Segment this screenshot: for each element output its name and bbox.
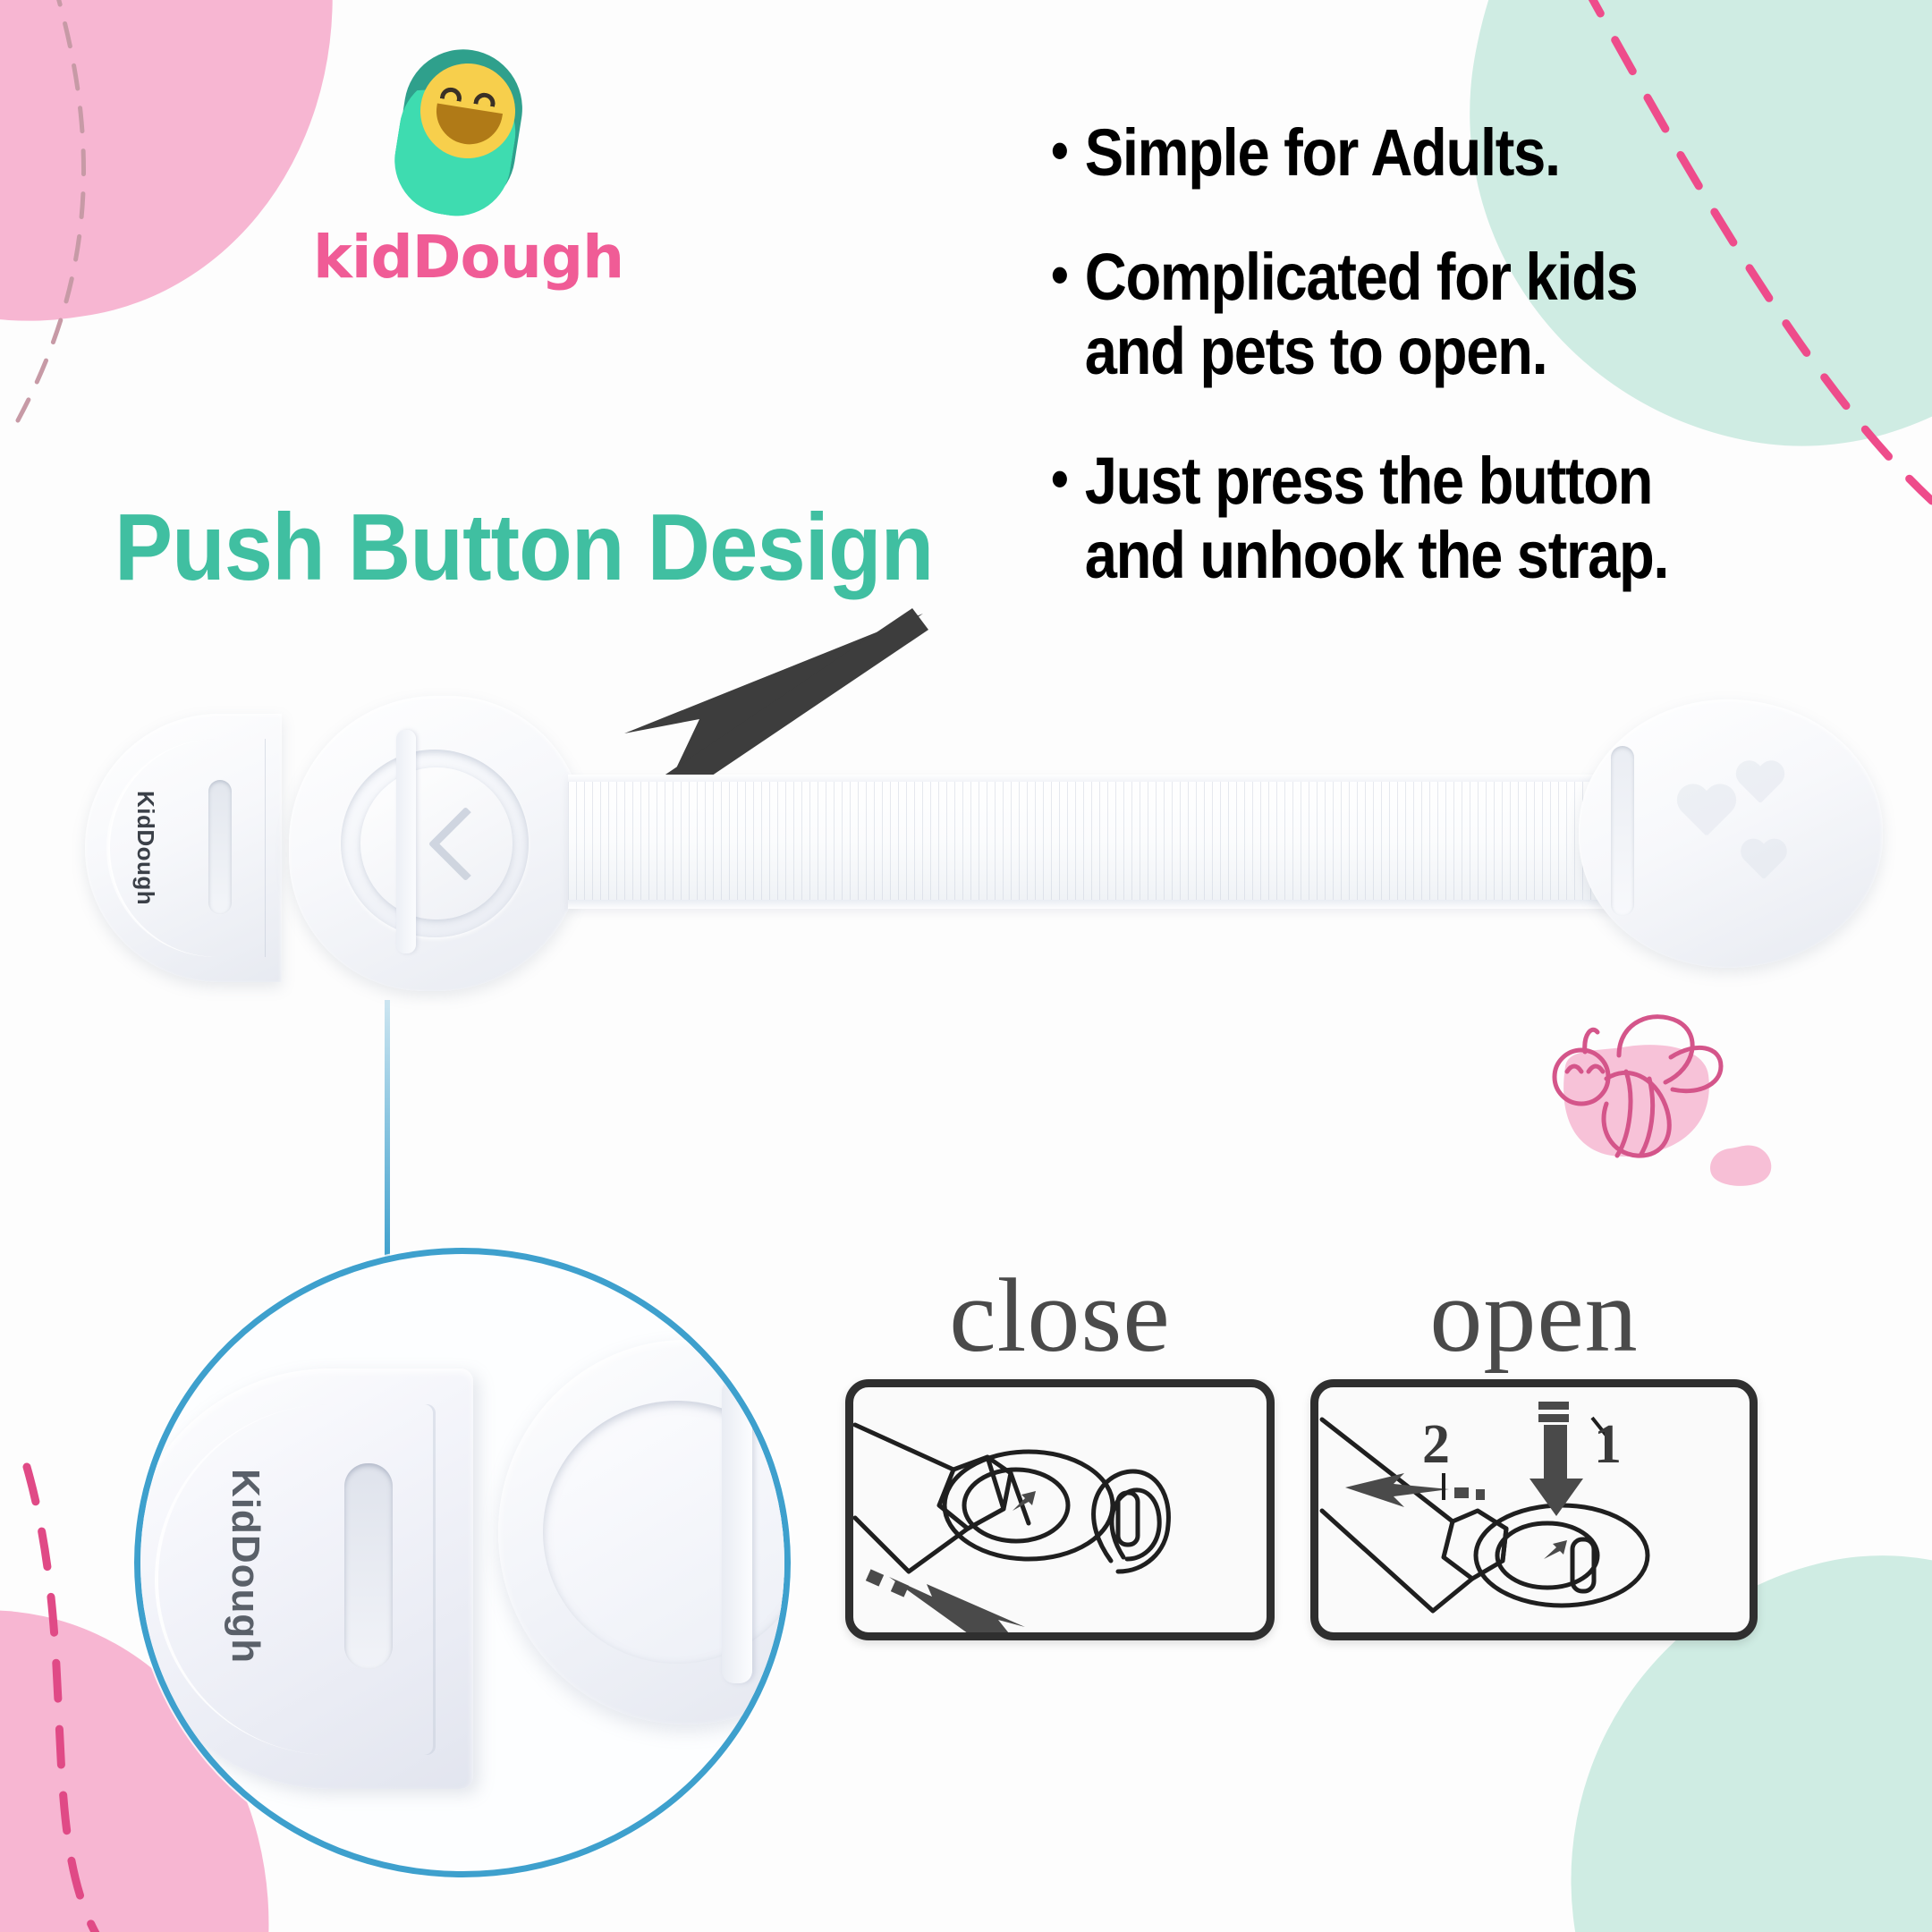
bullet-marker: • xyxy=(1051,241,1067,309)
section-heading: Push Button Design xyxy=(114,494,933,602)
d-piece-rim xyxy=(106,739,266,957)
eye-left-icon xyxy=(440,86,463,102)
magnified-detail-circle: KidDough xyxy=(134,1248,791,1877)
heart-emboss-icon xyxy=(1740,840,1789,883)
smile-mouth-icon xyxy=(432,104,503,149)
panel-diagram-open: 2 1 xyxy=(1310,1379,1758,1640)
d-piece-slot xyxy=(208,780,232,914)
magnified-d-piece-rim xyxy=(155,1404,436,1755)
hand-slide-close-icon xyxy=(853,1387,1267,1632)
woven-strap-icon xyxy=(568,775,1659,909)
strap-edge-bottom xyxy=(568,900,1659,909)
d-piece-brand-text: KidDough xyxy=(131,791,159,905)
bullet-text: Complicated for kids and pets to open. xyxy=(1085,241,1681,389)
buckle-ridge xyxy=(396,730,416,953)
hand-press-pull-open-icon: 2 1 xyxy=(1318,1387,1750,1632)
feature-bullet-1: • Simple for Adults. xyxy=(1051,116,1681,191)
strap-edge-top xyxy=(568,775,1659,782)
instruction-panel-open: open xyxy=(1310,1263,1758,1640)
product-end-cap xyxy=(1579,699,1883,968)
brand-wordmark: kidDough xyxy=(313,228,608,287)
end-cap-slot xyxy=(1611,746,1634,916)
step-number-1: 1 xyxy=(1594,1414,1622,1475)
product-push-button-buckle xyxy=(289,696,584,991)
infographic-canvas: kidDough • Simple for Adults. • Complica… xyxy=(0,0,1932,1932)
brand-logo-block: kidDough xyxy=(313,49,608,287)
feature-bullet-list: • Simple for Adults. • Complicated for k… xyxy=(1051,116,1767,592)
product-photo: KidDough xyxy=(67,689,1865,1064)
bullet-marker: • xyxy=(1051,445,1067,513)
magnified-d-piece-slot xyxy=(344,1463,393,1669)
magnified-d-piece: KidDough xyxy=(134,1368,473,1789)
panel-label-close: close xyxy=(845,1263,1275,1368)
product-d-piece: KidDough xyxy=(85,714,282,982)
feature-bullet-2: • Complicated for kids and pets to open. xyxy=(1051,241,1681,389)
bullet-text: Simple for Adults. xyxy=(1085,116,1681,191)
feature-bullet-3: • Just press the button and unhook the s… xyxy=(1051,445,1681,593)
panel-label-open: open xyxy=(1310,1263,1758,1368)
instruction-panel-close: close xyxy=(845,1263,1275,1640)
heart-emboss-icon xyxy=(1675,785,1738,841)
eye-right-icon xyxy=(473,91,496,107)
bullet-marker: • xyxy=(1051,116,1067,185)
magnified-button-ring xyxy=(543,1401,791,1664)
magnified-brand-text: KidDough xyxy=(223,1469,267,1664)
panel-diagram-close xyxy=(845,1379,1275,1640)
heart-emboss-icon xyxy=(1734,762,1785,808)
magnified-buckle xyxy=(498,1340,791,1724)
magnified-buckle-ridge xyxy=(722,1379,752,1683)
swaddled-baby-icon xyxy=(394,49,528,219)
magnifier-leader-line xyxy=(385,1000,390,1259)
step-number-2: 2 xyxy=(1422,1414,1450,1475)
bullet-text: Just press the button and unhook the str… xyxy=(1085,445,1681,593)
